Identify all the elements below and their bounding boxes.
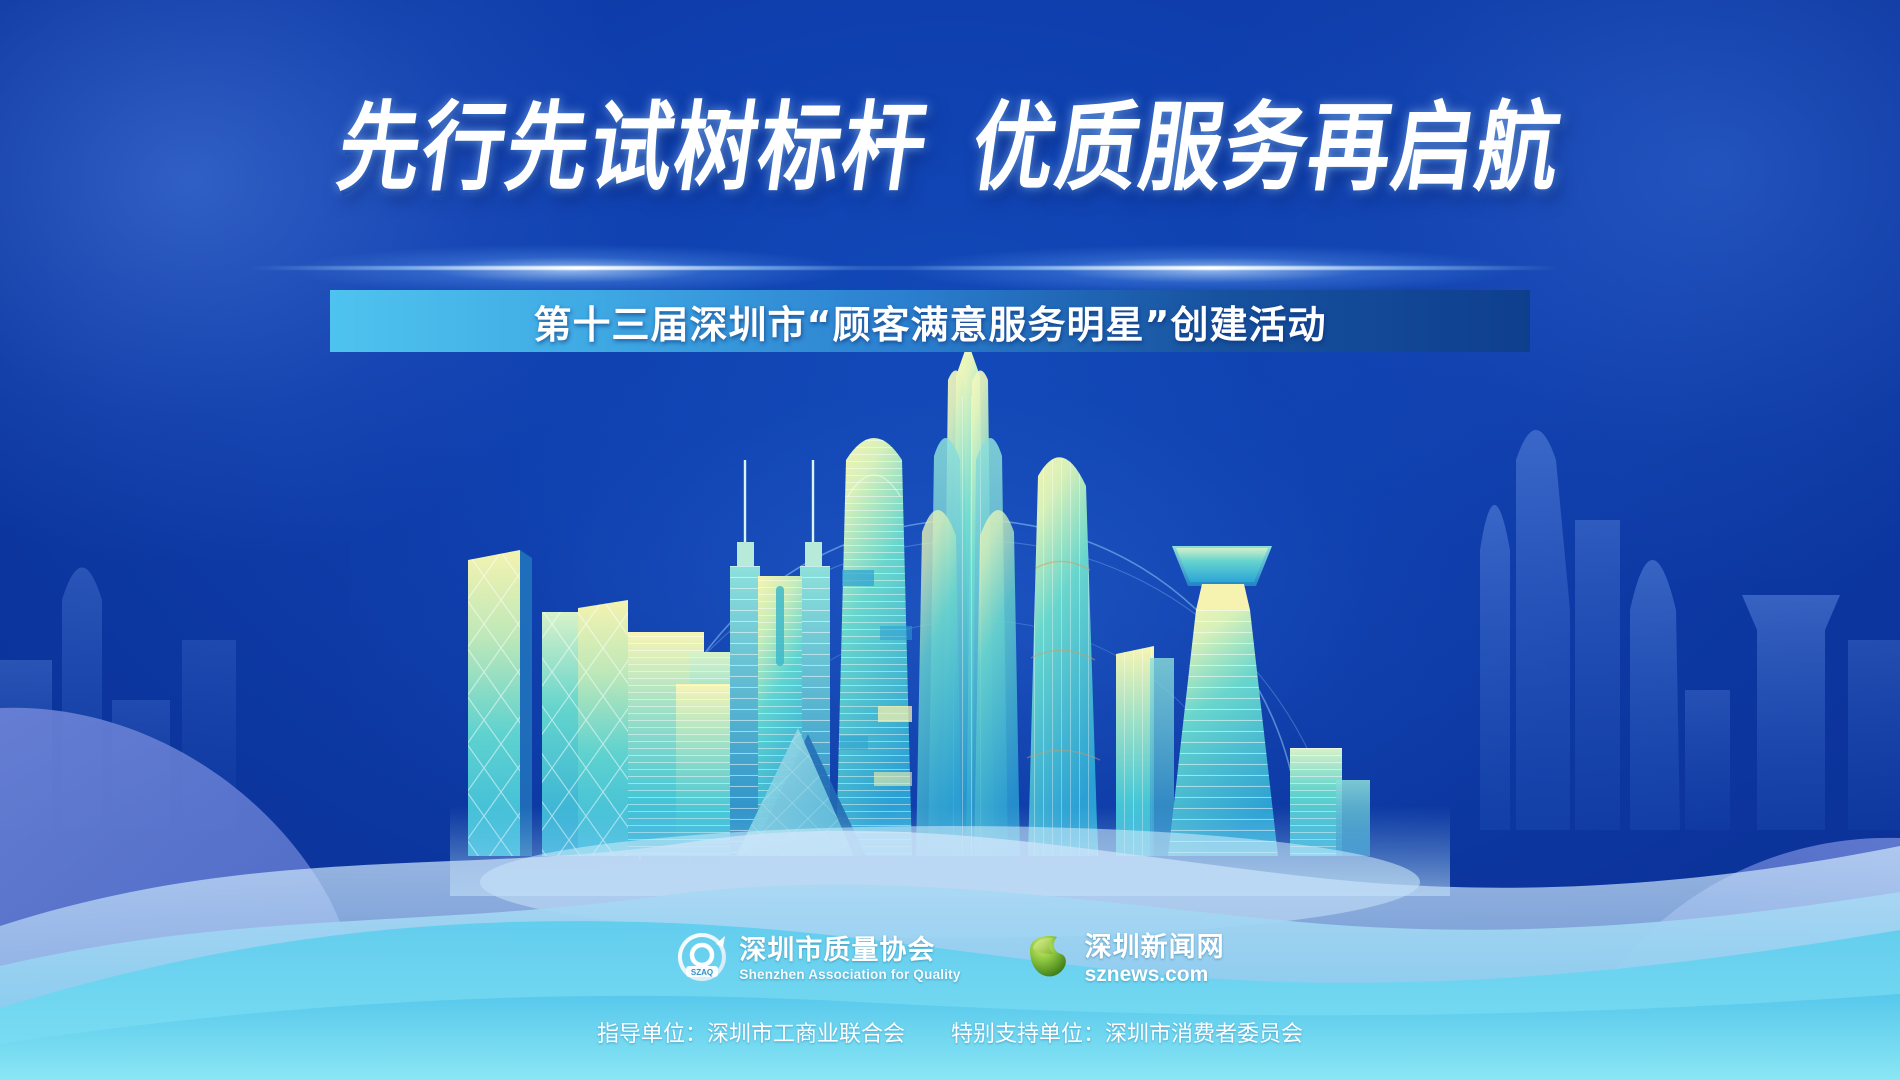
- sponsor-logo-row: SZAQ 深圳市质量协会 Shenzhen Association for Qu…: [0, 930, 1900, 989]
- light-halo-left: [290, 244, 850, 296]
- title-left-half: 先行先试树标杆: [331, 92, 935, 204]
- guide-unit-label: 指导单位：深圳市工商业联合会: [597, 1022, 905, 1047]
- support-unit-label: 特别支持单位：深圳市消费者委员会: [951, 1022, 1303, 1047]
- building-ping-an-tower: [916, 342, 1020, 856]
- logo-sznews: 深圳新闻网 sznews.com: [1021, 930, 1225, 989]
- logo-name-en: sznews.com: [1085, 964, 1225, 985]
- page-title: 先行先试树标杆优质服务再启航: [332, 101, 1568, 198]
- logo-name-en: Shenzhen Association for Quality: [739, 968, 960, 982]
- subtitle-band: 第十三届深圳市“顾客满意服务明星”创建活动: [330, 290, 1530, 352]
- logo-name-cn: 深圳新闻网: [1085, 934, 1225, 961]
- light-halo-right: [900, 244, 1520, 296]
- subtitle-text: 第十三届深圳市“顾客满意服务明星”创建活动: [330, 290, 1530, 352]
- ghost-skyline-right: [1480, 310, 1900, 830]
- logo-text-block: 深圳新闻网 sznews.com: [1085, 934, 1225, 985]
- ghost-skyline-left: [0, 360, 300, 830]
- footer-credits: 指导单位：深圳市工商业联合会特别支持单位：深圳市消费者委员会: [0, 1016, 1900, 1048]
- logo-shenzhen-association-for-quality: SZAQ 深圳市质量协会 Shenzhen Association for Qu…: [675, 930, 960, 989]
- title-right-half: 优质服务再启航: [965, 92, 1569, 204]
- title-block: 先行先试树标杆优质服务再启航: [0, 108, 1900, 190]
- light-streak-right: [860, 266, 1560, 270]
- building-rounded-tower: [836, 438, 912, 856]
- svg-text:SZAQ: SZAQ: [691, 968, 713, 977]
- building-bullet-tower: [1027, 457, 1100, 856]
- green-leaf-icon: [1021, 930, 1075, 989]
- logo-name-cn: 深圳市质量协会: [739, 937, 960, 964]
- light-streak-left: [250, 266, 910, 270]
- logo-text-block: 深圳市质量协会 Shenzhen Association for Quality: [739, 937, 960, 982]
- city-skyline-illustration: [450, 336, 1450, 896]
- quality-seal-icon: SZAQ: [675, 930, 729, 989]
- poster-canvas: 先行先试树标杆优质服务再启航 第十三届深圳市“顾客满意服务明星”创建活动: [0, 0, 1900, 1080]
